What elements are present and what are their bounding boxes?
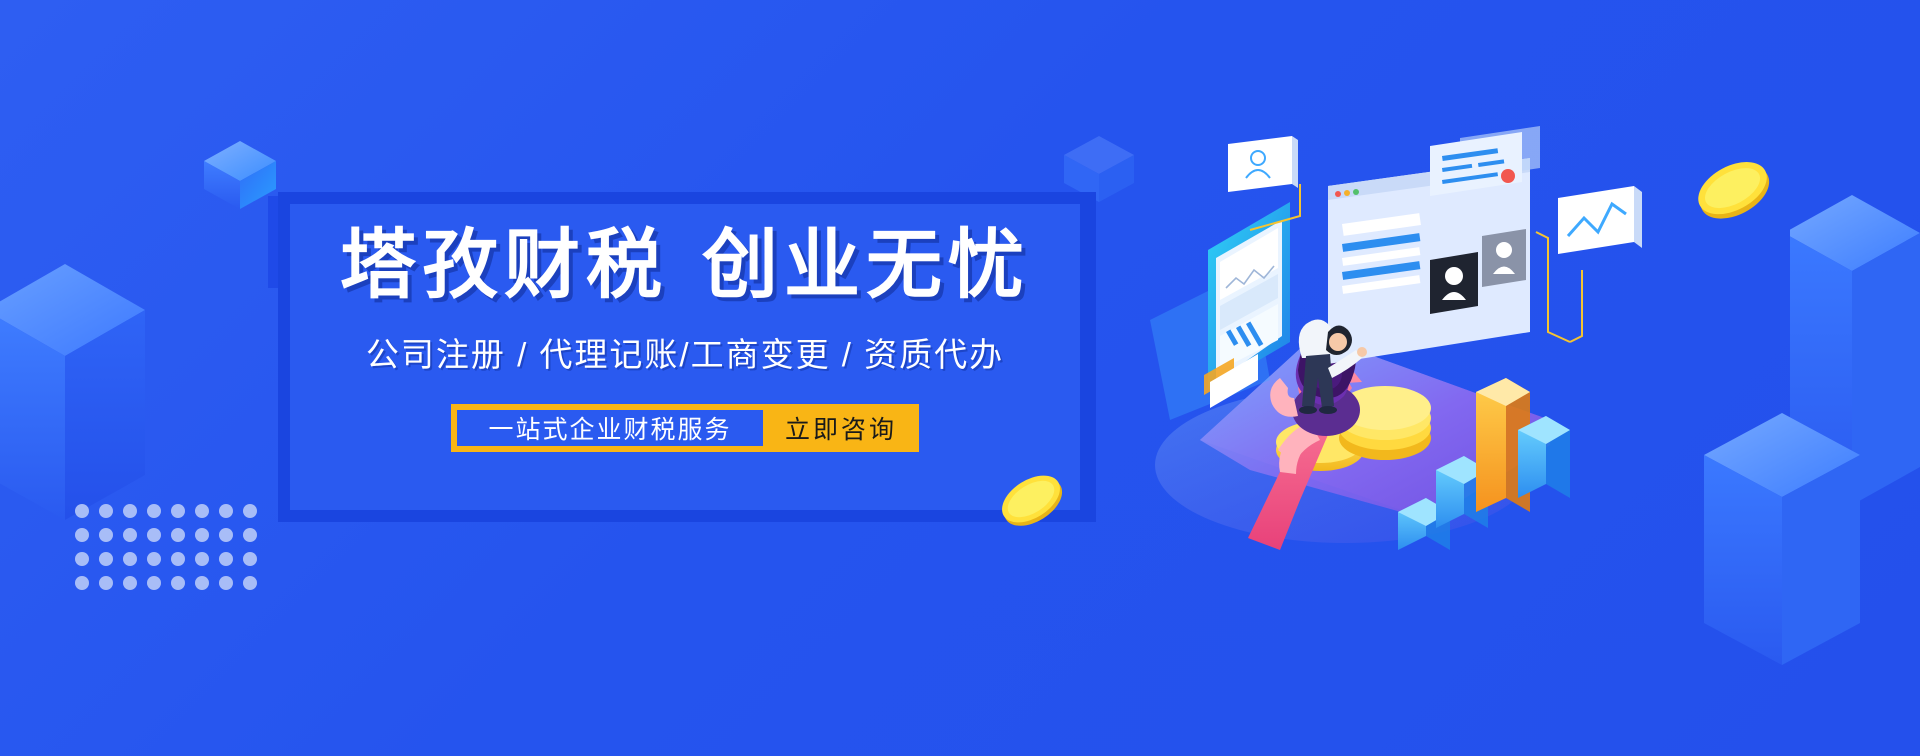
cta-row: 一站式企业财税服务 立即咨询 <box>451 404 919 452</box>
dot-grid-icon <box>75 504 267 600</box>
service-tag: 一站式企业财税服务 <box>457 410 763 446</box>
promo-banner: 塔孜财税创业无忧 公司注册 / 代理记账/工商变更 / 资质代办 一站式企业财税… <box>0 0 1920 756</box>
contact-card-icon <box>1228 136 1298 192</box>
page-title: 塔孜财税创业无忧 <box>340 226 1030 306</box>
headline-part2: 创业无忧 <box>702 223 1030 308</box>
consult-now-button[interactable]: 立即咨询 <box>763 404 919 452</box>
gold-coin-icon <box>1692 148 1774 230</box>
headline-part1: 塔孜财税 <box>340 223 668 308</box>
subtitle: 公司注册 / 代理记账/工商变更 / 资质代办 <box>366 328 1004 376</box>
line-chart-card-icon <box>1558 186 1642 254</box>
isometric-prism-icon <box>0 220 145 520</box>
isometric-fintech-illustration <box>1130 120 1690 580</box>
isometric-prism-icon <box>1700 405 1865 665</box>
panel-content: 塔孜财税创业无忧 公司注册 / 代理记账/工商变更 / 资质代办 一站式企业财税… <box>290 204 1080 510</box>
isometric-prism-icon <box>1790 185 1920 505</box>
isometric-cube-icon <box>200 135 280 215</box>
